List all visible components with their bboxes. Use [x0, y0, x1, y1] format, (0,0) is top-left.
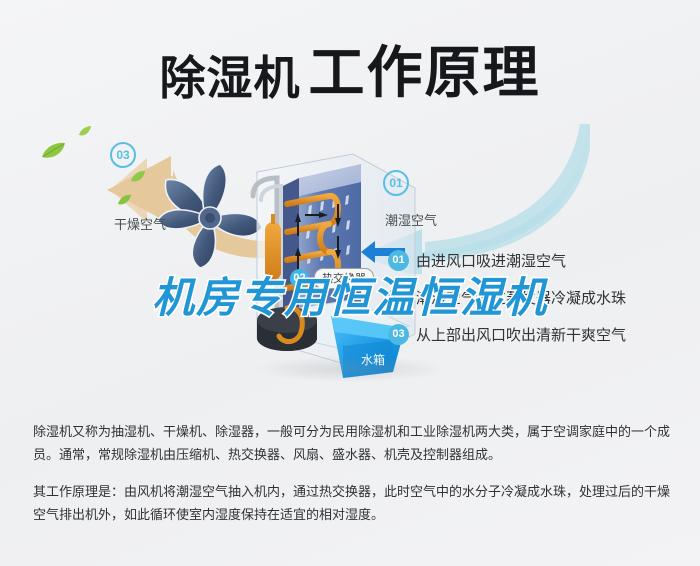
description-paragraph-1: 除湿机又称为抽湿机、干燥机、除湿器，一般可分为民用除湿机和工业除湿机两大类，属于… [33, 420, 673, 466]
humid-air-badge: 01 [383, 170, 409, 196]
humid-air-label: 潮湿空气 [385, 210, 437, 229]
leaf-icon [40, 142, 66, 160]
dry-air-label: 干燥空气 [114, 214, 166, 233]
title-part-1: 除湿机 [160, 52, 301, 104]
leaf-icon [78, 126, 92, 137]
description-block: 除湿机又称为抽湿机、干燥机、除湿器，一般可分为民用除湿机和工业除湿机两大类，属于… [33, 420, 673, 540]
page-title: 除湿机工作原理 [0, 28, 700, 109]
legend-text: 从上部出风口吹出清新干爽空气 [416, 324, 626, 345]
legend-item: 03 从上部出风口吹出清新干爽空气 [388, 324, 688, 345]
description-paragraph-2: 其工作原理是：由风机将潮湿空气抽入机内，通过热交换器，此时空气中的水分子冷凝成水… [33, 480, 673, 526]
leaf-icon [117, 194, 132, 206]
title-part-2: 工作原理 [309, 41, 541, 104]
legend-number: 03 [388, 324, 409, 345]
infographic-page: 除湿机工作原理 [0, 0, 700, 566]
leaf-icon [130, 170, 146, 183]
dry-air-badge: 03 [110, 142, 136, 168]
watermark-overlay: 机房专用恒温恒湿机 [0, 264, 700, 325]
